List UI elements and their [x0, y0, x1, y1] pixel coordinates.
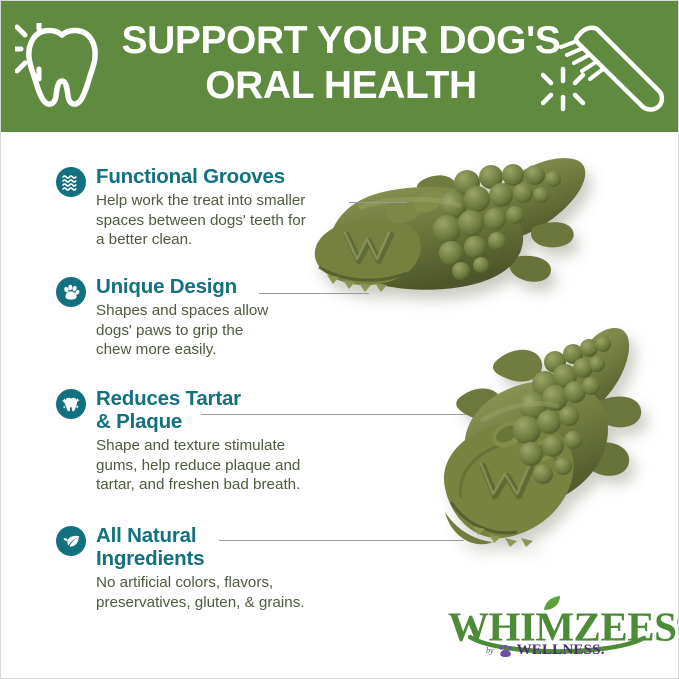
feature-text: Shape and texture stimulate gums, help r… [96, 436, 300, 495]
wellness-paw-emblem-icon [497, 644, 514, 658]
feature-text: Help work the treat into smaller spaces … [96, 191, 306, 250]
feature-body: Reduces Tartar & Plaque Shape and textur… [96, 387, 300, 495]
feature-title: Reduces Tartar & Plaque [96, 387, 300, 433]
feature-functional-grooves: Functional Grooves Help work the treat i… [56, 165, 306, 250]
header-banner: SUPPORT YOUR DOG'S ORAL HEALTH [1, 1, 679, 132]
feature-body: Functional Grooves Help work the treat i… [96, 165, 306, 250]
feature-all-natural-ingredients: All Natural Ingredients No artificial co… [56, 524, 305, 612]
feature-reduces-tartar-plaque: Reduces Tartar & Plaque Shape and textur… [56, 387, 300, 495]
feature-title: Unique Design [96, 275, 268, 298]
paw-print-icon [56, 277, 86, 307]
feature-body: Unique Design Shapes and spaces allow do… [96, 275, 268, 360]
logo-by-text: by [486, 646, 494, 655]
feature-title: Functional Grooves [96, 165, 306, 188]
feature-text: Shapes and spaces allow dogs' paws to gr… [96, 301, 268, 360]
feature-body: All Natural Ingredients No artificial co… [96, 524, 305, 612]
infographic-page: SUPPORT YOUR DOG'S ORAL HEALTH [0, 0, 679, 679]
logo-parent-brand-text: WELLNESS. [517, 642, 605, 659]
feature-list: Functional Grooves Help work the treat i… [1, 132, 401, 632]
sparkling-tooth-icon [56, 389, 86, 419]
brand-logo: WHIMZEES® by WELLNESS. [448, 599, 663, 665]
waves-grooves-icon [56, 167, 86, 197]
feature-text: No artificial colors, flavors, preservat… [96, 573, 305, 612]
tooth-sparkle-icon [15, 23, 107, 116]
feature-title: All Natural Ingredients [96, 524, 305, 570]
alligator-dental-chew-bottom [421, 326, 679, 586]
leaf-natural-icon [56, 526, 86, 556]
feature-unique-design: Unique Design Shapes and spaces allow do… [56, 275, 268, 360]
logo-byline: by WELLNESS. [486, 642, 605, 659]
page-title: SUPPORT YOUR DOG'S ORAL HEALTH [96, 18, 586, 108]
